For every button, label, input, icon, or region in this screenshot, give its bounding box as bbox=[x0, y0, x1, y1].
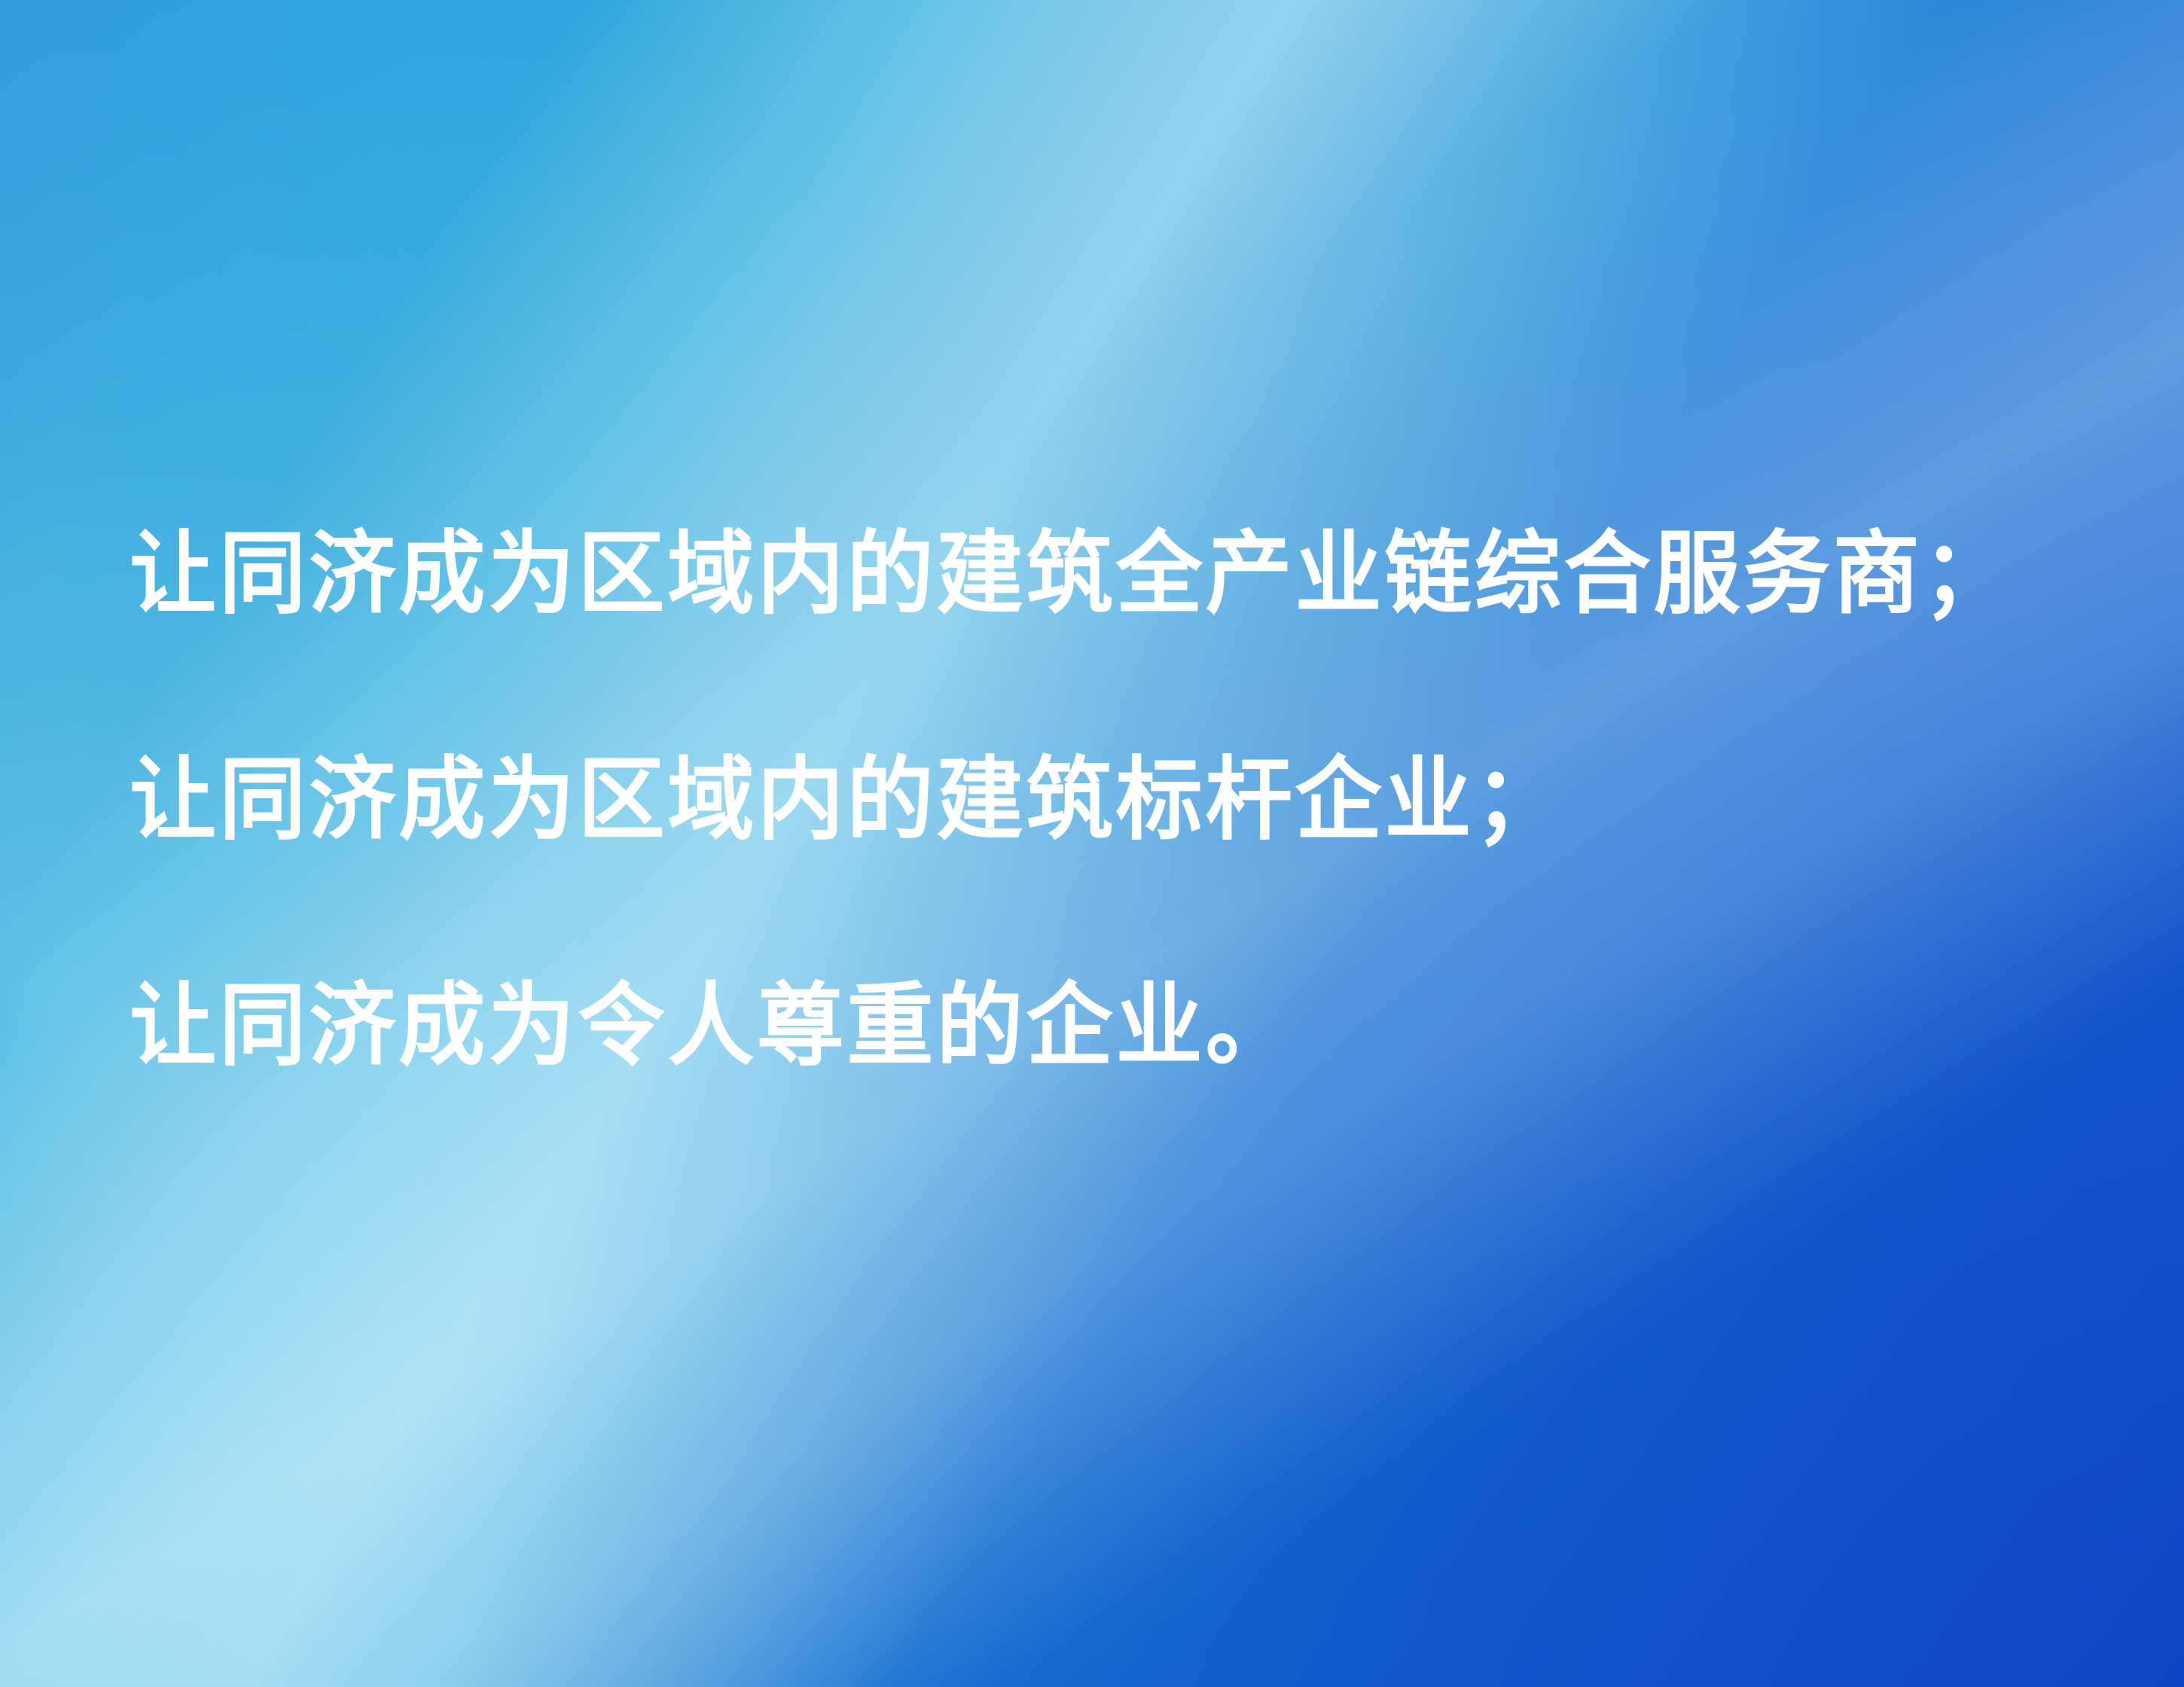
slogan-line-1: 让同济成为区域内的建筑全产业链综合服务商； bbox=[130, 461, 2024, 687]
slide-canvas: 让同济成为区域内的建筑全产业链综合服务商； 让同济成为区域内的建筑标杆企业； 让… bbox=[0, 0, 2184, 1687]
slogan-text-block: 让同济成为区域内的建筑全产业链综合服务商； 让同济成为区域内的建筑标杆企业； 让… bbox=[130, 461, 2103, 1139]
slogan-line-2: 让同济成为区域内的建筑标杆企业； bbox=[130, 687, 2024, 913]
slogan-line-3: 让同济成为令人尊重的企业。 bbox=[130, 913, 2024, 1139]
